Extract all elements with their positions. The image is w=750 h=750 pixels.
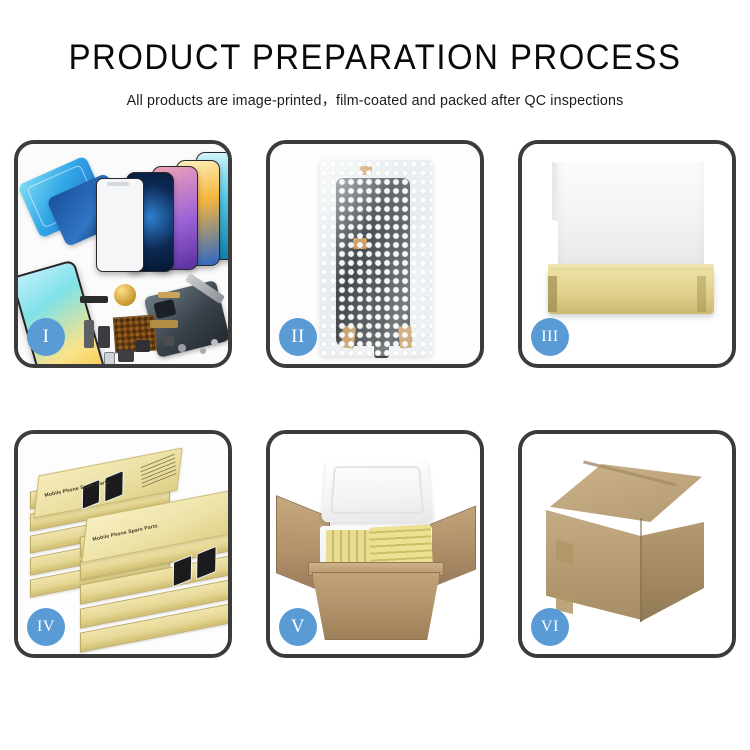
speaker-module-icon bbox=[114, 284, 136, 306]
step-badge-4: IV bbox=[27, 608, 65, 646]
plastic-gloss-icon bbox=[320, 160, 432, 356]
component-part-icon bbox=[164, 336, 174, 346]
foam-lid-icon bbox=[321, 459, 433, 522]
process-step-grid: I II bbox=[14, 140, 736, 658]
process-step-panel-3: III bbox=[518, 140, 736, 368]
box-lid-icon bbox=[558, 162, 704, 274]
camera-module-icon bbox=[136, 340, 150, 352]
carton-front-panel-icon bbox=[312, 572, 440, 640]
header: PRODUCT PREPARATION PROCESS All products… bbox=[0, 0, 750, 110]
process-step-panel-5: V bbox=[266, 430, 484, 658]
box-corner-icon bbox=[548, 276, 557, 312]
screw-icon bbox=[200, 348, 206, 354]
page-subtitle: All products are image-printed，film-coat… bbox=[6, 89, 745, 110]
step-badge-3: III bbox=[531, 318, 569, 356]
component-part-icon bbox=[80, 296, 108, 303]
flex-cable-icon bbox=[98, 326, 110, 348]
step-badge-1: I bbox=[27, 318, 65, 356]
component-part-icon bbox=[150, 320, 178, 328]
printed-spec-lines-icon bbox=[140, 453, 176, 488]
process-step-panel-2: II bbox=[266, 140, 484, 368]
box-corner-icon bbox=[697, 276, 706, 312]
screw-icon bbox=[211, 339, 218, 346]
step-badge-2: II bbox=[279, 318, 317, 356]
process-step-panel-4: Mobile Phone Spare Parts Mobile Phone Sp… bbox=[14, 430, 232, 658]
carton-tape-icon bbox=[556, 540, 573, 564]
step-badge-6: VI bbox=[531, 608, 569, 646]
phone-glass-panel-icon bbox=[96, 178, 144, 272]
product-preparation-infographic: PRODUCT PREPARATION PROCESS All products… bbox=[0, 0, 750, 750]
kraft-box-tray-icon bbox=[548, 270, 714, 314]
step-badge-5: V bbox=[279, 608, 317, 646]
printed-phone-image-icon bbox=[104, 470, 124, 503]
carton-edge-icon bbox=[640, 518, 642, 622]
page-title: PRODUCT PREPARATION PROCESS bbox=[23, 40, 728, 75]
process-step-panel-1: I bbox=[14, 140, 232, 368]
flex-cable-icon bbox=[84, 320, 94, 348]
bubble-wrap-pouch-icon bbox=[320, 160, 432, 356]
button-part-icon bbox=[178, 344, 186, 352]
sim-tray-icon bbox=[104, 352, 115, 364]
component-part-icon bbox=[118, 350, 134, 362]
component-part-icon bbox=[158, 292, 180, 298]
process-step-panel-6: VI bbox=[518, 430, 736, 658]
